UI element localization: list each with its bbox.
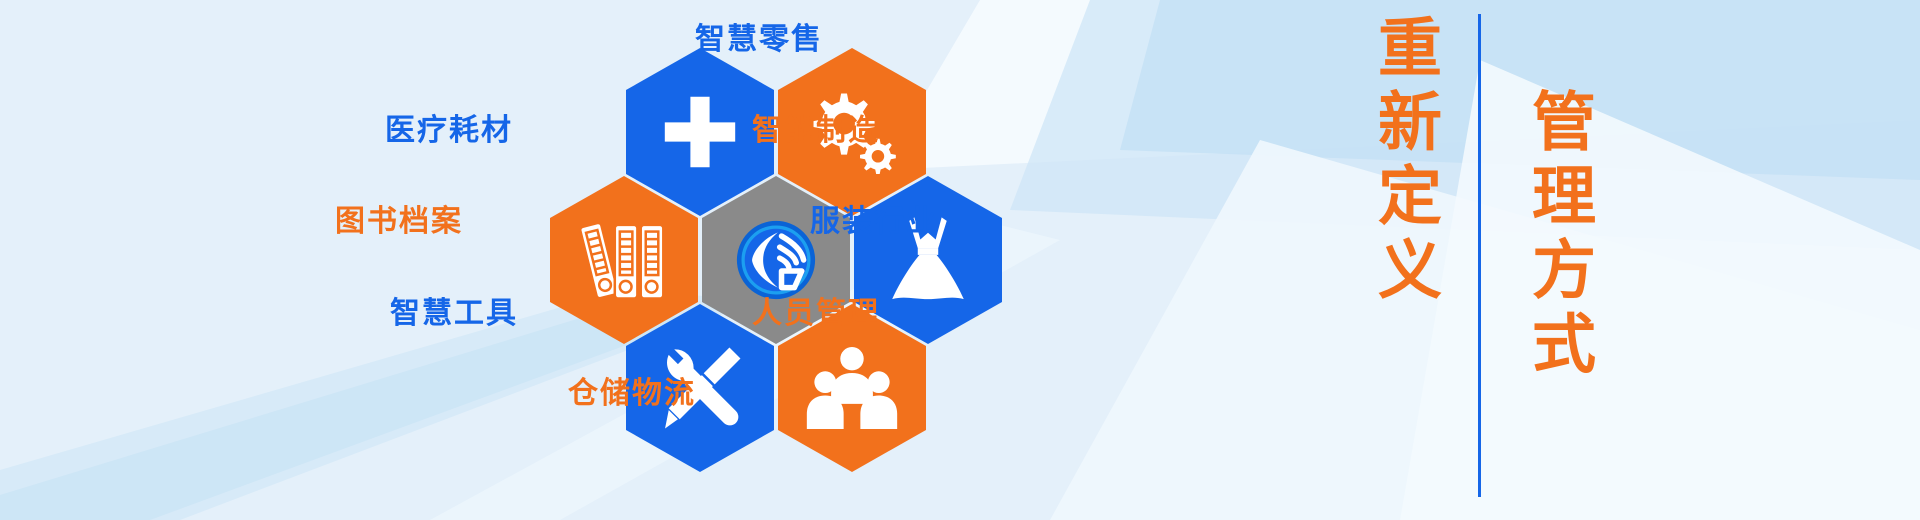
label-medical-supplies: 医疗耗材 [385,105,513,149]
calligraphy-column-management-method: 管理方式 [1492,88,1602,384]
label-apparel-industry: 服装行业 [810,196,938,240]
label-smart-manufacturing: 智能制造 [752,105,880,149]
calligraphy-divider-line [1478,14,1481,497]
calligraphy-column-redefine: 重新定义 [1338,14,1448,310]
label-warehouse-logistics: 仓储物流 [568,368,696,412]
calligraphy-block: 重新定义 管理方式 [1330,0,1630,520]
people-group-icon [806,345,898,431]
medical-cross-icon [660,92,740,172]
industry-solution-banner: 智慧零售 医疗耗材 智能制造 图书档案 服装行业 智慧工具 人员管理 仓储物流 … [0,0,1920,520]
label-personnel-management: 人员管理 [752,288,880,332]
label-smart-retail: 智慧零售 [695,14,823,58]
label-library-archives: 图书档案 [335,196,463,240]
archive-binders-icon [578,216,670,304]
label-smart-tools: 智慧工具 [390,288,518,332]
